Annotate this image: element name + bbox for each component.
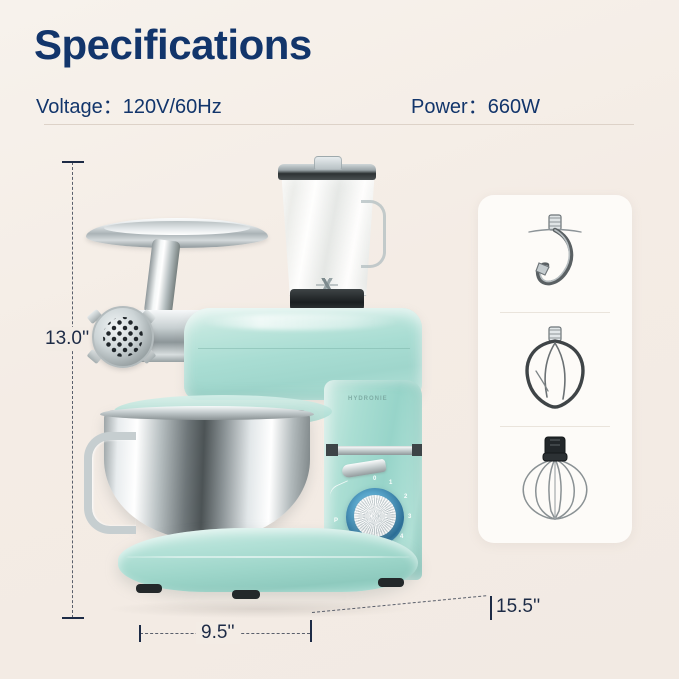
spec-power-value: 660W [488, 96, 540, 118]
blender-jar [272, 156, 382, 311]
dough-hook-icon [509, 205, 601, 305]
width-dimension-cap-left [139, 625, 141, 642]
trim-end-left [326, 444, 338, 456]
mixer-base [118, 528, 418, 592]
page-title: Specifications [34, 24, 312, 66]
accessory-item-dough-hook[interactable] [478, 199, 632, 311]
spec-power: Power：660W [411, 90, 540, 119]
header-divider [44, 124, 634, 125]
height-dimension-cap-top [62, 161, 84, 163]
mixer-foot-center [232, 590, 260, 599]
dial-mark-3: 3 [408, 514, 411, 520]
spec-power-label: Power： [411, 96, 488, 118]
mixer-foot-left [136, 584, 162, 593]
specifications-page: Specifications Voltage：120V/60Hz Power：6… [0, 0, 679, 679]
mixer-head-seam [198, 348, 410, 349]
dial-mark-2: 2 [404, 494, 407, 500]
accessory-item-flat-beater[interactable] [478, 313, 632, 425]
grinder-tray-inner [104, 221, 250, 235]
stand-mixer-illustration: HYDRONIE 0 1 2 3 4 5 6 MAX P [80, 140, 460, 620]
spec-voltage: Voltage：120V/60Hz [36, 90, 222, 119]
mixing-bowl-rim [100, 406, 314, 420]
chrome-trim-strip [326, 446, 422, 455]
dial-mark-4: 4 [400, 534, 403, 540]
spec-voltage-value: 120V/60Hz [123, 96, 222, 118]
flat-beater-icon [505, 319, 605, 419]
width-dimension-label: 9.5'' [196, 622, 240, 644]
trim-end-right [412, 444, 422, 456]
dial-mark-0: 0 [373, 476, 376, 482]
spec-voltage-label: Voltage： [36, 96, 123, 118]
blender-jar-handle [361, 200, 386, 268]
height-dimension-label: 13.0'' [43, 327, 91, 351]
grinder-cutting-plate [92, 306, 154, 368]
spec-row: Voltage：120V/60Hz Power：660W [36, 90, 636, 116]
mixing-bowl-handle [84, 432, 136, 534]
depth-dimension-label: 15.5'' [496, 596, 540, 618]
mixer-head-highlight [200, 314, 400, 330]
height-dimension-cap-bottom [62, 617, 84, 619]
accessory-item-wire-whisk[interactable] [478, 427, 632, 539]
dial-mark-p: P [334, 518, 338, 524]
mixer-base-seam [126, 556, 410, 558]
dial-mark-1: 1 [389, 480, 392, 486]
width-dimension-cap-right [310, 620, 312, 642]
grinder-holes [103, 317, 143, 357]
height-dimension-line [72, 162, 73, 618]
grinder-neck [143, 239, 180, 320]
brand-logo: HYDRONIE [348, 396, 388, 402]
accessories-panel [478, 195, 632, 543]
depth-dimension-cap-right [490, 596, 492, 620]
mixer-foot-right [378, 578, 404, 587]
blender-jar-cap [314, 156, 342, 170]
wire-whisk-icon [503, 433, 607, 533]
